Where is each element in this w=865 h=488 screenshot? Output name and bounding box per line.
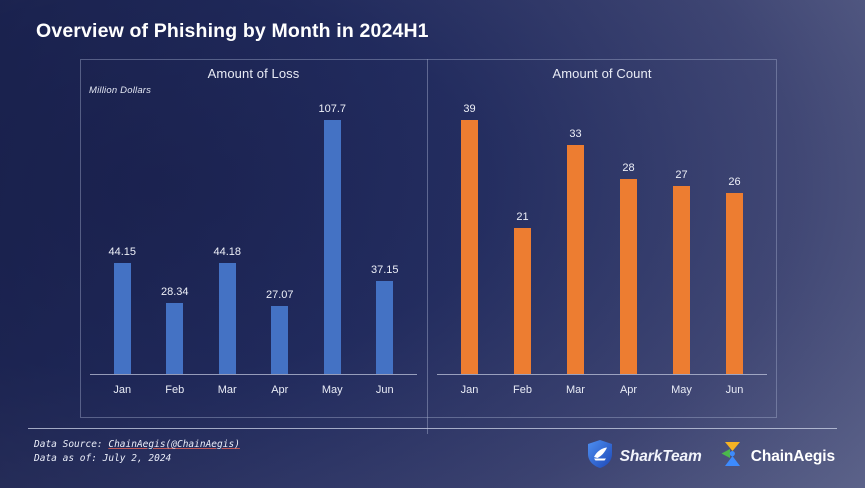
page-title: Overview of Phishing by Month in 2024H1 [36, 20, 429, 43]
bar-rect[interactable] [271, 306, 288, 374]
x-tick-label: Feb [149, 384, 202, 396]
bar-rect[interactable] [166, 303, 183, 374]
x-axis-labels-loss: Jan Feb Mar Apr May Jun [96, 384, 411, 396]
logo-sharkteam-label: SharkTeam [620, 448, 702, 466]
logo-sharkteam[interactable]: SharkTeam [586, 439, 702, 474]
bar-value-label: 44.18 [213, 246, 241, 258]
bar-rect[interactable] [376, 281, 393, 374]
source-block: Data Source: ChainAegis(@ChainAegis) Dat… [34, 438, 240, 466]
bar-value-label: 28.34 [161, 286, 189, 298]
x-tick-label: Apr [254, 384, 307, 396]
x-tick-label: Apr [602, 384, 655, 396]
bar-value-label: 28 [622, 162, 634, 174]
x-tick-label: Jun [708, 384, 761, 396]
plot-area-loss: 44.15 28.34 44.18 27.07 [96, 103, 411, 374]
bar-rect[interactable] [726, 193, 743, 374]
logo-chainaegis[interactable]: ChainAegis [719, 439, 835, 474]
bar-value-label: 21 [516, 211, 528, 223]
bar-rect[interactable] [461, 120, 478, 374]
x-tick-label: Mar [549, 384, 602, 396]
footer: Data Source: ChainAegis(@ChainAegis) Dat… [0, 429, 865, 488]
bar-rect[interactable] [620, 179, 637, 374]
data-source-prefix: Data Source: [34, 439, 108, 450]
x-tick-label: May [655, 384, 708, 396]
x-axis-labels-count: Jan Feb Mar Apr May Jun [443, 384, 761, 396]
x-tick-label: Mar [201, 384, 254, 396]
bar-rect[interactable] [219, 263, 236, 374]
x-axis-line [437, 374, 767, 375]
chart-amount-of-loss: Amount of Loss Million Dollars 44.15 28.… [80, 59, 427, 418]
bar-item[interactable]: 33 [549, 103, 602, 374]
bar-value-label: 26 [728, 176, 740, 188]
bar-item[interactable]: 27.07 [254, 103, 307, 374]
bar-value-label: 107.7 [318, 103, 346, 115]
bar-value-label: 27 [675, 169, 687, 181]
slide-canvas: Overview of Phishing by Month in 2024H1 … [0, 0, 865, 488]
x-tick-label: Feb [496, 384, 549, 396]
plot-area-count: 39 21 33 28 [443, 103, 761, 374]
chart-title-count: Amount of Count [427, 66, 777, 81]
bar-item[interactable]: 26 [708, 103, 761, 374]
bar-item[interactable]: 107.7 [306, 103, 359, 374]
logo-group: SharkTeam ChainAegis [586, 439, 835, 474]
charts-container: Amount of Loss Million Dollars 44.15 28.… [80, 59, 777, 418]
bar-value-label: 37.15 [371, 264, 399, 276]
bar-item[interactable]: 37.15 [359, 103, 412, 374]
bar-value-label: 27.07 [266, 289, 294, 301]
bar-item[interactable]: 28.34 [149, 103, 202, 374]
bar-rect[interactable] [673, 186, 690, 374]
bar-item[interactable]: 28 [602, 103, 655, 374]
bar-value-label: 44.15 [108, 246, 136, 258]
bar-value-label: 33 [569, 128, 581, 140]
bar-group-loss: 44.15 28.34 44.18 27.07 [96, 103, 411, 374]
shield-shark-icon [586, 439, 614, 474]
chart-unit-label: Million Dollars [89, 85, 151, 96]
chart-title-loss: Amount of Loss [80, 66, 427, 81]
data-as-of-line: Data as of: July 2, 2024 [34, 452, 240, 466]
bar-item[interactable]: 44.18 [201, 103, 254, 374]
bar-item[interactable]: 27 [655, 103, 708, 374]
bar-rect[interactable] [514, 228, 531, 374]
x-tick-label: Jun [359, 384, 412, 396]
bar-item[interactable]: 44.15 [96, 103, 149, 374]
x-tick-label: Jan [443, 384, 496, 396]
bar-rect[interactable] [114, 263, 131, 374]
bar-item[interactable]: 39 [443, 103, 496, 374]
data-source-link[interactable]: ChainAegis(@ChainAegis) [108, 439, 240, 450]
bar-value-label: 39 [463, 103, 475, 115]
bar-rect[interactable] [567, 145, 584, 374]
bar-item[interactable]: 21 [496, 103, 549, 374]
logo-chainaegis-label: ChainAegis [751, 448, 835, 466]
hourglass-bowtie-icon [719, 439, 745, 474]
x-axis-line [90, 374, 417, 375]
x-tick-label: Jan [96, 384, 149, 396]
x-tick-label: May [306, 384, 359, 396]
bar-group-count: 39 21 33 28 [443, 103, 761, 374]
bar-rect[interactable] [324, 120, 341, 374]
data-source-line: Data Source: ChainAegis(@ChainAegis) [34, 438, 240, 452]
chart-amount-of-count: Amount of Count 39 21 33 [427, 59, 777, 418]
